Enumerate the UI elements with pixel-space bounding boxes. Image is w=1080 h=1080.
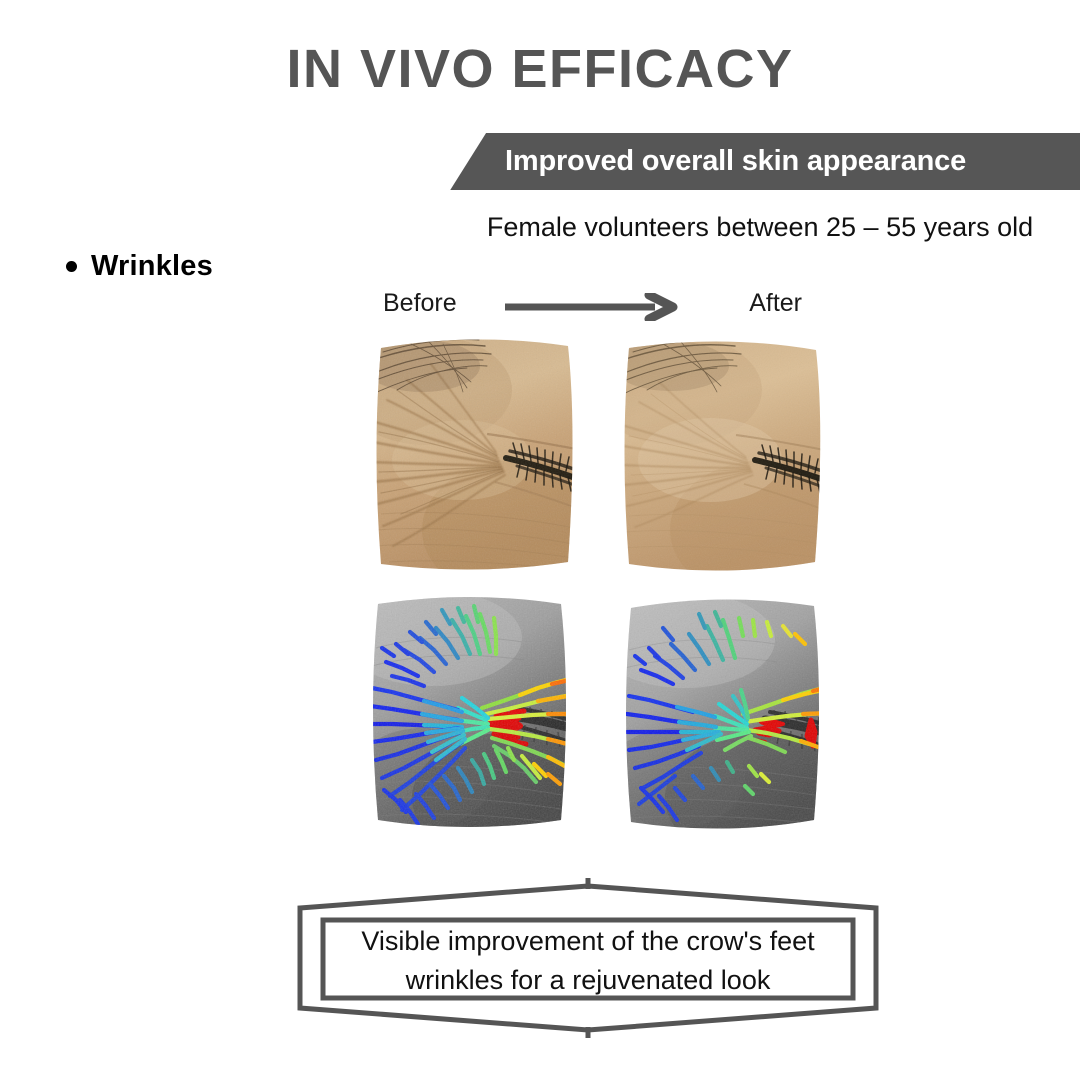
banner-label: Improved overall skin appearance [505,145,966,178]
tile-before-heatmap [362,588,577,836]
banner-improved-skin: Improved overall skin appearance [440,133,1080,190]
tile-after-photo [615,332,830,580]
after-label: After [749,289,802,318]
slide-root: IN VIVO EFFICACY Improved overall skin a… [0,0,1080,1080]
subtitle-volunteers: Female volunteers between 25 – 55 years … [440,212,1080,243]
page-title: IN VIVO EFFICACY [0,40,1080,99]
bullet-item-wrinkles: Wrinkles [66,250,213,283]
caption-text: Visible improvement of the crow's feet w… [293,922,883,1000]
tile-after-heatmap [615,590,830,838]
bullet-dot-icon [66,261,77,272]
before-after-header: Before After [360,289,840,327]
arrow-right-icon [503,293,678,321]
before-label: Before [383,289,457,318]
bullet-item-label: Wrinkles [91,250,213,283]
tile-before-photo [367,330,582,578]
caption-ribbon: Visible improvement of the crow's feet w… [293,878,883,1038]
image-grid [362,330,852,850]
